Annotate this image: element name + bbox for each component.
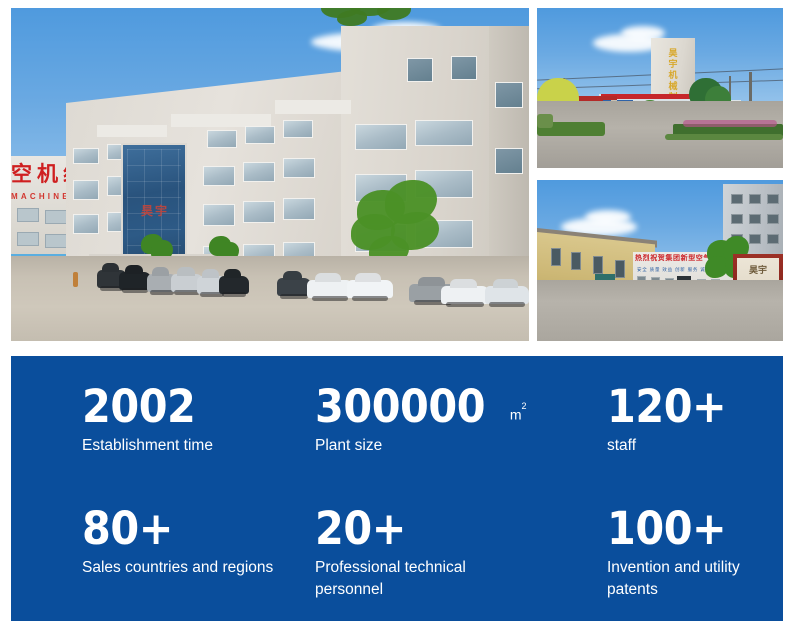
pedestrian: [73, 272, 78, 287]
window: [283, 120, 313, 138]
company-stats-panel: 2002 Establishment time 300000 m2 Plant …: [11, 356, 783, 621]
window: [17, 208, 39, 222]
window: [749, 194, 761, 204]
main-office-scene: 空机组而奋斗 MACHINE IN THE WORLD: [11, 8, 529, 341]
window: [17, 232, 39, 246]
window: [495, 82, 523, 108]
window: [243, 162, 275, 182]
stat-label: Invention and utility patents: [607, 557, 765, 601]
window: [731, 214, 743, 224]
window: [73, 180, 99, 200]
window: [731, 194, 743, 204]
parked-car: [277, 278, 311, 296]
stat-value: 20+: [315, 506, 406, 552]
stat-value: 80+: [82, 506, 173, 552]
stat-technical-personnel: 20+ Professional technical personnel: [315, 492, 607, 606]
roof-cap: [97, 125, 167, 137]
stat-value: 100+: [607, 506, 726, 552]
factory-gate-scene: 昊宇机械制造: [537, 8, 783, 168]
atrium-signage: 昊宇: [123, 204, 187, 234]
parked-car: [219, 276, 249, 294]
shrub: [537, 114, 553, 128]
window: [551, 248, 561, 266]
stat-label: Plant size: [315, 435, 515, 457]
window: [73, 148, 99, 164]
window: [73, 214, 99, 234]
window: [749, 214, 761, 224]
parked-car: [347, 280, 393, 298]
window: [407, 58, 433, 82]
window: [571, 252, 581, 270]
window: [451, 56, 477, 80]
photo-gallery: 空机组而奋斗 MACHINE IN THE WORLD: [11, 8, 783, 341]
window: [45, 210, 67, 224]
stat-value-line: 20+: [315, 506, 607, 552]
stat-value-line: 100+: [607, 506, 765, 552]
stat-value-line: 2002: [82, 384, 315, 430]
stat-sales-countries: 80+ Sales countries and regions: [82, 492, 315, 606]
stat-label: Establishment time: [82, 435, 282, 457]
window: [415, 120, 473, 146]
stat-label: Professional technical personnel: [315, 557, 515, 601]
workshop-yard-scene: 热烈祝贺集团新型空气压缩机 安全 质量 效益 创新 服务 诚信 团结 奋进: [537, 180, 783, 341]
photo-factory-main-gate[interactable]: 昊宇机械制造: [537, 8, 783, 168]
window: [243, 201, 275, 223]
window: [767, 194, 779, 204]
stat-plant-size: 300000 m2 Plant size: [315, 378, 607, 492]
parked-car: [441, 286, 489, 304]
window: [45, 234, 67, 248]
window: [203, 166, 235, 186]
stat-label: Sales countries and regions: [82, 557, 282, 579]
window: [207, 130, 237, 148]
concrete-yard: [537, 280, 783, 341]
parked-car: [485, 286, 529, 304]
stats-grid: 2002 Establishment time 300000 m2 Plant …: [82, 378, 765, 605]
stat-unit-base: m: [510, 407, 522, 423]
window: [767, 234, 779, 244]
stat-value: 120+: [607, 384, 726, 430]
window: [593, 256, 603, 274]
window: [767, 214, 779, 224]
stat-value: 2002: [82, 384, 195, 430]
stat-value-line: 120+: [607, 384, 765, 430]
monument-text: 昊宇: [737, 264, 779, 276]
window: [203, 204, 235, 226]
stat-patents: 100+ Invention and utility patents: [607, 492, 765, 606]
photo-main-office-building[interactable]: 空机组而奋斗 MACHINE IN THE WORLD: [11, 8, 529, 341]
stat-value-line: 80+: [82, 506, 315, 552]
stat-value: 300000: [315, 384, 485, 430]
stat-establishment-time: 2002 Establishment time: [82, 378, 315, 492]
window: [283, 158, 315, 178]
roof-cap: [275, 100, 351, 114]
window: [245, 126, 275, 144]
stat-unit: m2: [510, 406, 527, 423]
window: [615, 260, 625, 278]
hedge: [665, 134, 783, 140]
company-profile-page: 空机组而奋斗 MACHINE IN THE WORLD: [0, 0, 800, 633]
flowers: [683, 120, 777, 127]
stat-staff: 120+ staff: [607, 378, 765, 492]
stat-value-line: 300000 m2: [315, 384, 607, 430]
window: [355, 124, 407, 150]
stat-label: staff: [607, 435, 765, 457]
window: [283, 198, 315, 220]
window: [495, 148, 523, 174]
cloud: [585, 210, 631, 224]
photo-workshop-yard[interactable]: 热烈祝贺集团新型空气压缩机 安全 质量 效益 创新 服务 诚信 团结 奋进: [537, 180, 783, 341]
stat-unit-exponent: 2: [522, 401, 527, 411]
